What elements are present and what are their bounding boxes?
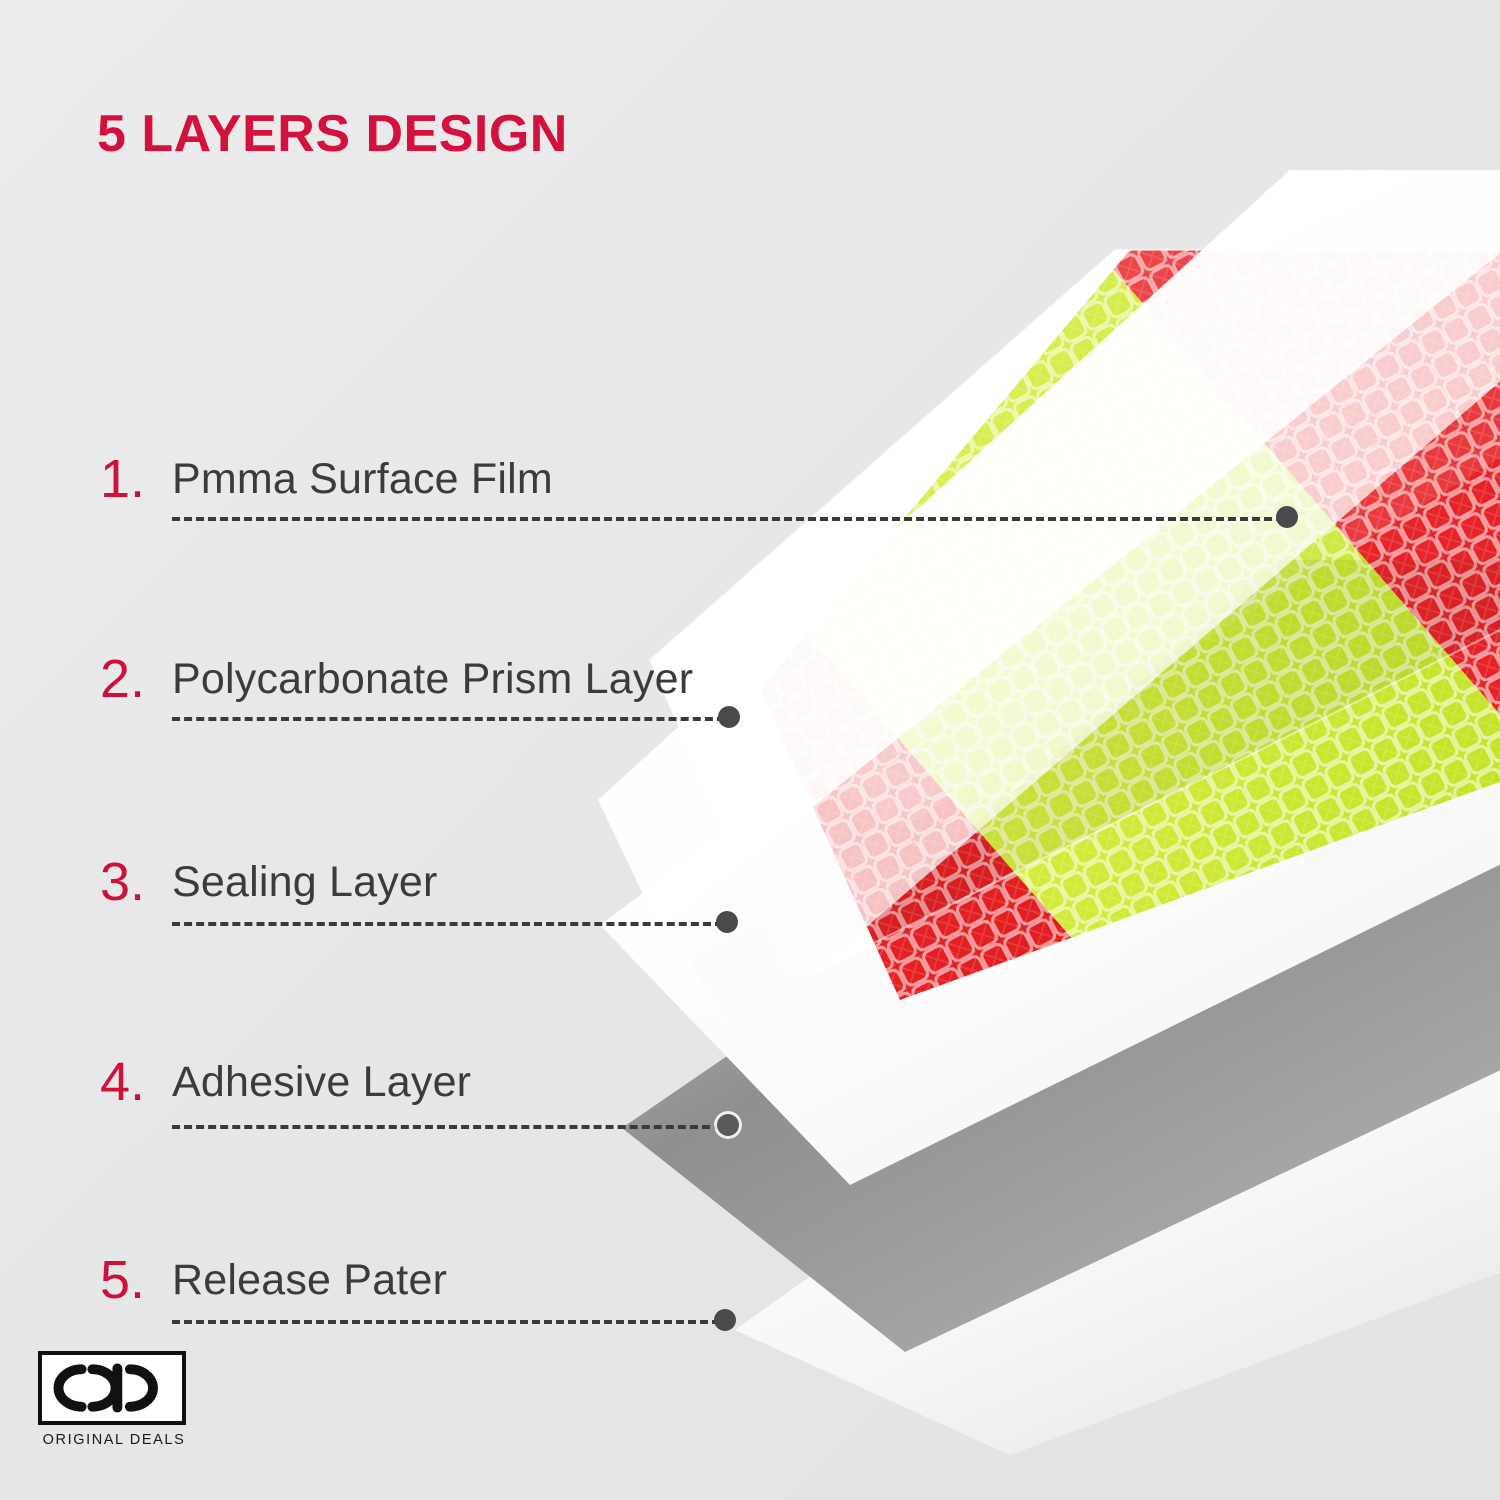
callout-label-3: Sealing Layer xyxy=(172,861,438,904)
callout-label-4: Adhesive Layer xyxy=(172,1061,471,1104)
adhesive-sheet xyxy=(622,790,1500,1352)
leader-line-3 xyxy=(172,922,723,926)
leader-dot-2 xyxy=(718,706,740,728)
callout-number-4: 4. xyxy=(100,1055,145,1109)
od-monogram-icon xyxy=(42,1355,182,1421)
callout-number-3: 3. xyxy=(100,855,145,909)
page-title: 5 LAYERS DESIGN xyxy=(97,104,568,164)
leader-dot-4 xyxy=(717,1114,739,1136)
sealing-sheet xyxy=(600,575,1500,1185)
leader-dot-5 xyxy=(714,1309,736,1331)
callout-label-1: Pmma Surface Film xyxy=(172,458,553,501)
infographic-canvas: 5 LAYERS DESIGN 1. Pmma Surface Film 2. … xyxy=(0,0,1500,1500)
leader-line-4 xyxy=(172,1125,722,1129)
callout-number-2: 2. xyxy=(100,652,145,706)
leader-dot-3 xyxy=(716,911,738,933)
logo-caption: ORIGINAL DEALS xyxy=(38,1432,190,1448)
pmma-surface-film xyxy=(598,170,1500,1040)
callout-number-1: 1. xyxy=(100,452,145,506)
brand-logo: ORIGINAL DEALS xyxy=(38,1351,190,1448)
callout-number-5: 5. xyxy=(100,1253,145,1307)
leader-line-5 xyxy=(172,1320,720,1324)
leader-dot-1 xyxy=(1276,506,1298,528)
leader-line-2 xyxy=(172,717,725,721)
callout-label-5: Release Pater xyxy=(172,1259,447,1302)
callout-label-2: Polycarbonate Prism Layer xyxy=(172,658,693,701)
logo-mark-box xyxy=(38,1351,186,1425)
leader-line-1 xyxy=(172,517,1284,521)
release-paper-sheet xyxy=(735,1010,1500,1455)
